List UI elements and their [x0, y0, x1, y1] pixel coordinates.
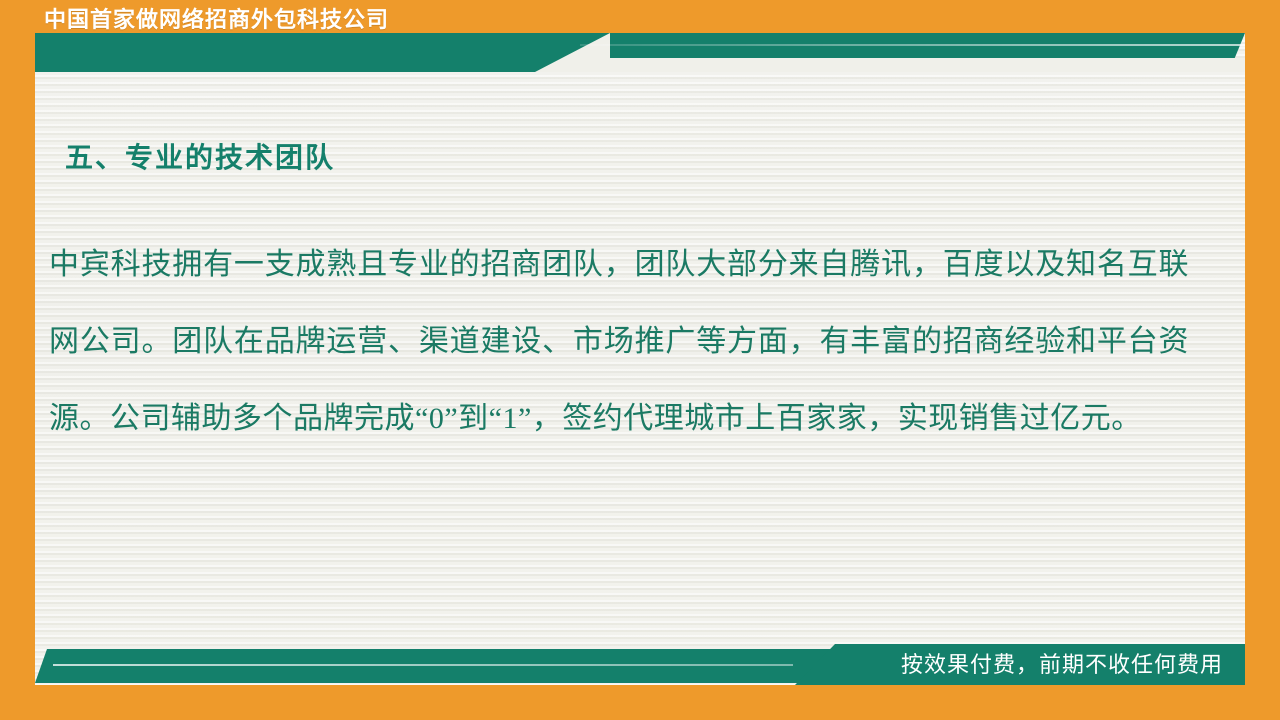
header-banner-hairline — [580, 44, 1245, 46]
body-paragraph: 中宾科技拥有一支成熟且专业的招商团队，团队大部分来自腾讯，百度以及知名互联网公司… — [49, 226, 1189, 457]
footer-banner-hairline — [53, 664, 793, 666]
footer-banner-strip — [35, 649, 835, 683]
section-heading: 五、专业的技术团队 — [65, 136, 335, 176]
header-banner-notch-tail — [610, 58, 1245, 72]
header-banner — [35, 33, 1245, 72]
header-title: 中国首家做网络招商外包科技公司 — [44, 6, 389, 34]
footer-tagline: 按效果付费，前期不收任何费用 — [901, 650, 1223, 679]
presentation-slide: 中国首家做网络招商外包科技公司 五、专业的技术团队 中宾科技拥有一支成熟且专业的… — [0, 0, 1280, 720]
footer-banner: 按效果付费，前期不收任何费用 — [35, 644, 1245, 685]
